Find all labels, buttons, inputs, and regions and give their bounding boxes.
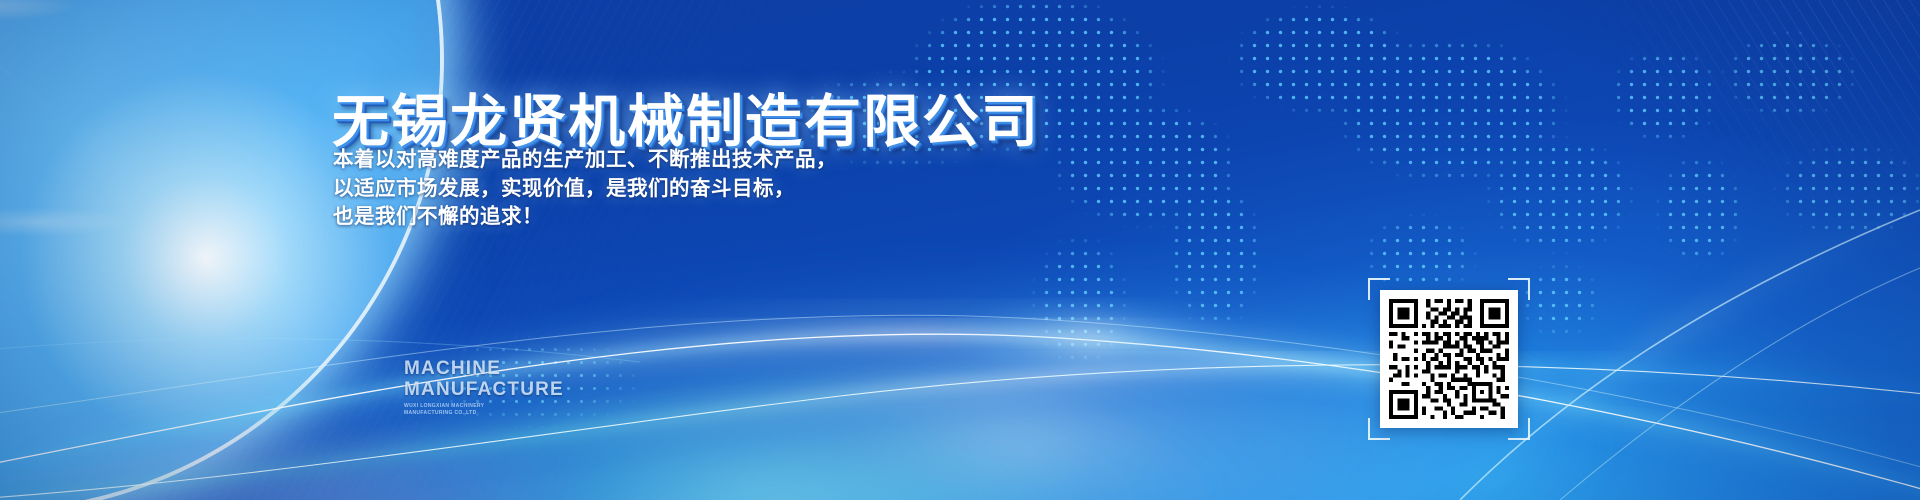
slogan-line-1: 本着以对高难度产品的生产加工、不断推出技术产品， — [333, 146, 837, 175]
earth-globe-graphic — [0, 0, 440, 500]
company-slogan: 本着以对高难度产品的生产加工、不断推出技术产品， 以适应市场发展，实现价值，是我… — [333, 146, 837, 232]
slogan-line-3: 也是我们不懈的追求！ — [333, 203, 837, 232]
promo-banner: 无锡龙贤机械制造有限公司 本着以对高难度产品的生产加工、不断推出技术产品， 以适… — [0, 0, 1920, 500]
brandmark-legal-name: WUXI LONGXIAN MACHINERY MANUFACTURING CO… — [404, 403, 524, 416]
qr-code-svg — [1389, 299, 1509, 419]
sun-flare-icon — [0, 0, 95, 195]
english-brandmark: MACHINE MANUFACTURE WUXI LONGXIAN MACHIN… — [404, 358, 564, 416]
qr-code-frame — [1380, 290, 1518, 428]
qr-code-icon[interactable] — [1380, 290, 1518, 428]
brandmark-line-manufacture: MANUFACTURE — [404, 379, 564, 400]
brandmark-line-machine: MACHINE — [404, 358, 564, 379]
slogan-line-2: 以适应市场发展，实现价值，是我们的奋斗目标， — [333, 175, 837, 204]
